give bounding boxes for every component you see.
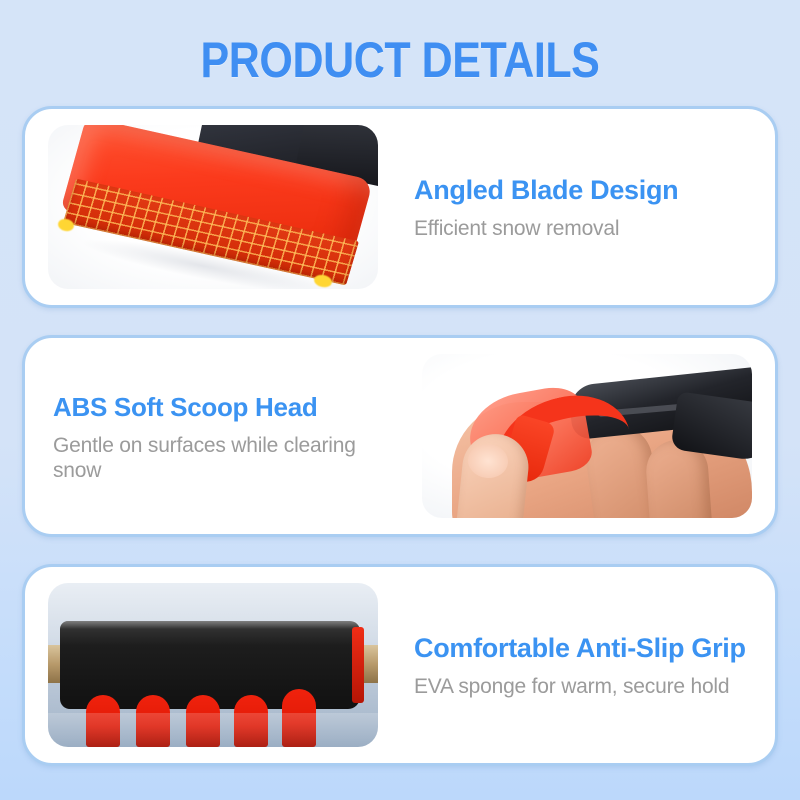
grip-highlight-shape xyxy=(60,621,360,629)
page-title: PRODUCT DETAILS xyxy=(56,0,744,86)
feature-text-abs-soft-scoop-head: ABS Soft Scoop Head Gentle on surfaces w… xyxy=(25,390,410,483)
feature-card-list: Angled Blade Design Efficient snow remov… xyxy=(22,106,778,793)
product-photo-soft-scoop-head xyxy=(422,354,752,518)
feature-text-comfortable-anti-slip-grip: Comfortable Anti-Slip Grip EVA sponge fo… xyxy=(390,631,775,699)
feature-card-abs-soft-scoop-head[interactable]: ABS Soft Scoop Head Gentle on surfaces w… xyxy=(22,335,778,537)
feature-description: Efficient snow removal xyxy=(414,216,757,241)
feature-description: Gentle on surfaces while clearing snow xyxy=(53,433,386,483)
grip-red-end-cap-shape xyxy=(352,627,364,703)
feature-title: ABS Soft Scoop Head xyxy=(53,390,386,424)
feature-card-angled-blade-design[interactable]: Angled Blade Design Efficient snow remov… xyxy=(22,106,778,308)
feature-card-comfortable-anti-slip-grip[interactable]: Comfortable Anti-Slip Grip EVA sponge fo… xyxy=(22,564,778,766)
grip-surface-reflection-shape xyxy=(48,713,378,747)
product-photo-anti-slip-grip xyxy=(48,583,378,747)
feature-title: Angled Blade Design xyxy=(414,173,757,207)
product-photo-angled-blade xyxy=(48,125,378,289)
feature-title: Comfortable Anti-Slip Grip xyxy=(414,631,757,665)
feature-description: EVA sponge for warm, secure hold xyxy=(414,674,757,699)
feature-text-angled-blade-design: Angled Blade Design Efficient snow remov… xyxy=(390,173,775,241)
